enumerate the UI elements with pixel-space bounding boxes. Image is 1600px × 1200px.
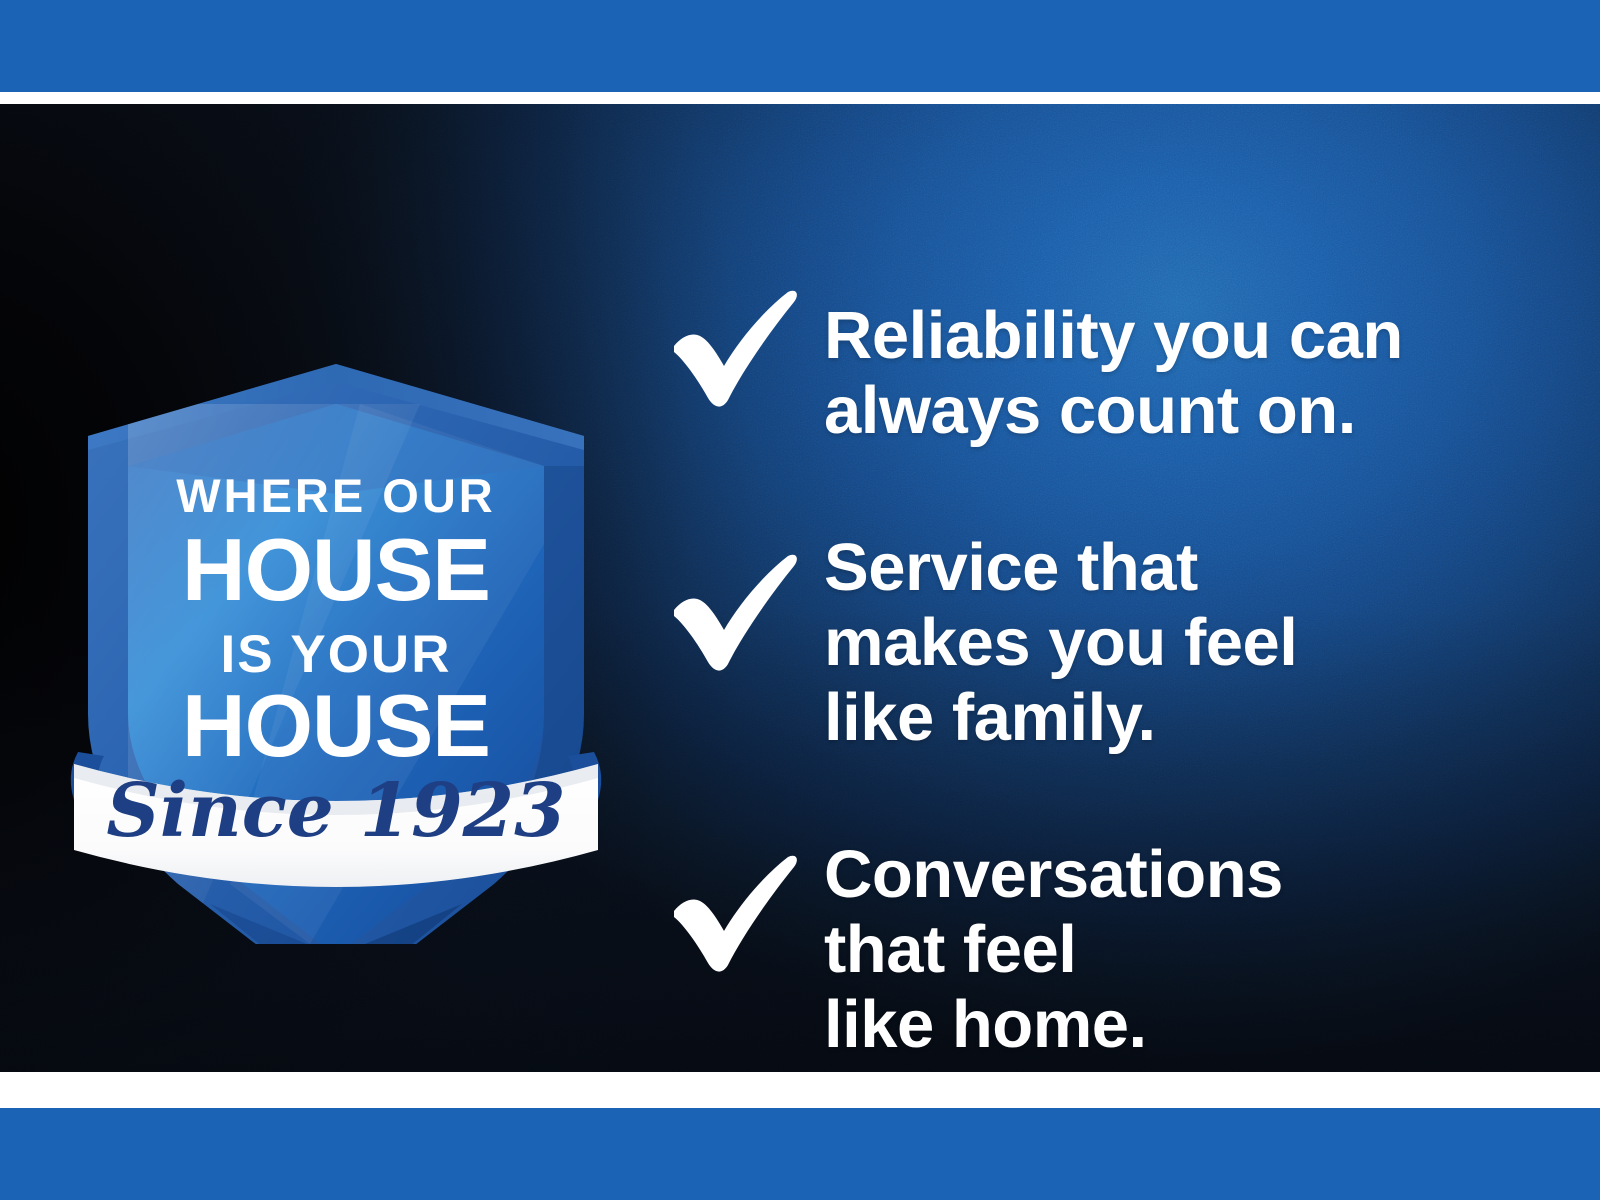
list-item-label: Service that makes you feel like family.	[824, 530, 1297, 755]
check-icon	[670, 855, 800, 973]
list-item: Service that makes you feel like family.	[670, 526, 1530, 755]
check-icon	[670, 554, 800, 672]
top-brand-bar	[0, 0, 1600, 92]
check-icon	[670, 290, 800, 408]
list-item: Conversations that feel like home.	[670, 833, 1530, 1062]
list-item-label: Reliability you can always count on.	[824, 298, 1403, 448]
main-stage: WHERE OUR HOUSE IS YOUR HOUSE Since 1923	[0, 104, 1600, 1072]
badge-line-4: HOUSE	[182, 676, 490, 775]
benefits-list: Reliability you can always count on. Ser…	[670, 284, 1530, 1062]
bottom-brand-bar	[0, 1108, 1600, 1200]
promo-graphic: WHERE OUR HOUSE IS YOUR HOUSE Since 1923	[0, 0, 1600, 1200]
ribbon-text: Since 1923	[106, 768, 565, 854]
list-item-label: Conversations that feel like home.	[824, 837, 1283, 1062]
badge-line-1: WHERE OUR	[176, 469, 495, 522]
shield-emblem: WHERE OUR HOUSE IS YOUR HOUSE Since 1923	[60, 244, 640, 944]
ribbon: Since 1923	[71, 752, 601, 887]
list-item: Reliability you can always count on.	[670, 284, 1530, 448]
badge-line-2: HOUSE	[182, 520, 490, 619]
